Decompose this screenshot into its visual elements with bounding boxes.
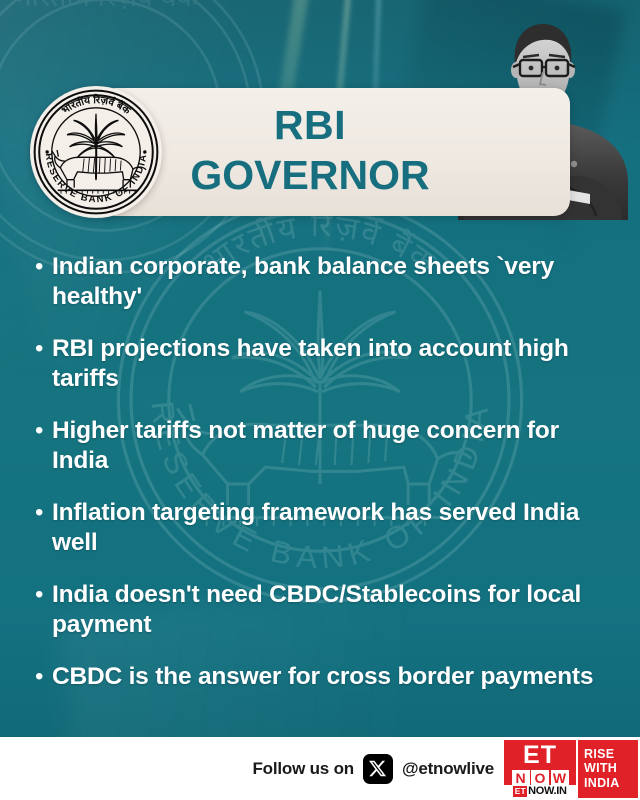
title-line-1: RBI [160, 100, 460, 150]
page-title: RBI GOVERNOR [160, 100, 460, 200]
etnow-logo-now-w: W [551, 770, 569, 786]
svg-text:भारतीय रिज़र्व बैंक: भारतीय रिज़र्व बैंक [12, 0, 199, 12]
etnow-url-prefix: ET [513, 786, 527, 797]
footer-bar: Follow us on @etnowlive ET N O W ET NOW.… [0, 737, 640, 800]
bullet-text: Higher tariffs not matter of huge concer… [52, 416, 612, 476]
etnow-website-url: ET NOW.IN [504, 785, 576, 798]
infographic-card: भारतीय रिज़र्व बैंक भारतीय रिज़र्व बैंक … [0, 0, 640, 800]
follow-label: Follow us on [252, 759, 353, 779]
bullet-marker-icon: • [32, 416, 52, 446]
list-item: • India doesn't need CBDC/Stablecoins fo… [32, 580, 612, 640]
bullet-marker-icon: • [32, 498, 52, 528]
etnow-logo-et: ET [523, 743, 557, 768]
title-line-2: GOVERNOR [160, 150, 460, 200]
etnow-logo-mark: ET N O W ET NOW.IN [504, 740, 576, 798]
bullet-marker-icon: • [32, 334, 52, 364]
list-item: • Inflation targeting framework has serv… [32, 498, 612, 558]
social-handle[interactable]: @etnowlive [402, 759, 494, 779]
tagline-line-3: INDIA [584, 776, 638, 791]
etnow-logo[interactable]: ET N O W ET NOW.IN RISE WITH INDIA [504, 740, 638, 798]
bullet-text: RBI projections have taken into account … [52, 334, 612, 394]
bullet-text: India doesn't need CBDC/Stablecoins for … [52, 580, 612, 640]
bullet-marker-icon: • [32, 252, 52, 282]
x-twitter-icon[interactable] [363, 754, 393, 784]
tagline-line-1: RISE [584, 747, 638, 762]
bullet-text: Indian corporate, bank balance sheets `v… [52, 252, 612, 312]
list-item: • RBI projections have taken into accoun… [32, 334, 612, 394]
list-item: • Indian corporate, bank balance sheets … [32, 252, 612, 312]
bullet-text: Inflation targeting framework has served… [52, 498, 612, 558]
etnow-url-suffix: NOW.IN [528, 786, 567, 797]
list-item: • CBDC is the answer for cross border pa… [32, 662, 612, 692]
etnow-logo-now: N O W [512, 770, 569, 786]
list-item: • Higher tariffs not matter of huge conc… [32, 416, 612, 476]
follow-us-group: Follow us on @etnowlive [252, 754, 494, 784]
rbi-seal-logo: भारतीय रिज़र्व बैंक RESERVE BANK OF INDI… [30, 86, 162, 218]
bullet-marker-icon: • [32, 580, 52, 610]
etnow-tagline: RISE WITH INDIA [576, 740, 638, 798]
tagline-line-2: WITH [584, 761, 638, 776]
header-banner: RBI GOVERNOR [100, 88, 570, 216]
etnow-logo-now-o: O [531, 770, 549, 786]
etnow-logo-now-n: N [512, 770, 530, 786]
bullet-text: CBDC is the answer for cross border paym… [52, 662, 612, 692]
bullet-list: • Indian corporate, bank balance sheets … [32, 252, 612, 714]
bullet-marker-icon: • [32, 662, 52, 692]
